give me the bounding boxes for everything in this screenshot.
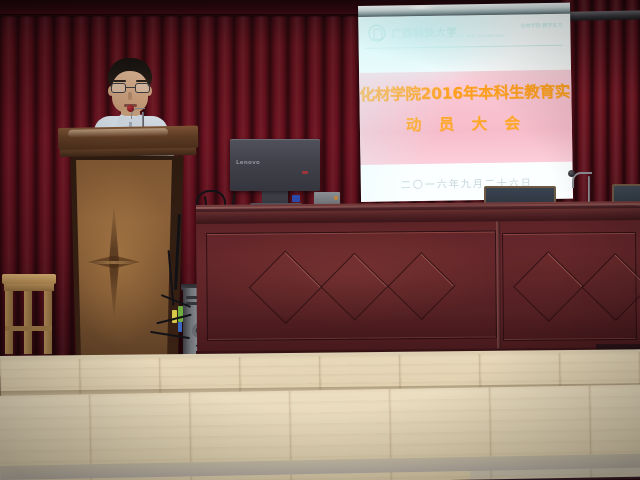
conference-table: [196, 205, 640, 363]
stool-stretcher: [5, 326, 52, 331]
presenter-nose: [128, 92, 132, 100]
university-emblem-icon: [368, 25, 385, 42]
star-inlay-highlight: [88, 261, 140, 264]
slide-title-line-2: 动 员 大 会: [360, 111, 572, 136]
monitor-vga-connector: [292, 195, 300, 202]
equipment-cable-loop: [196, 190, 226, 206]
stool-apron: [4, 283, 54, 291]
table-diamond-motif: [582, 253, 640, 321]
photograph-lecture-hall-stage: 广西科技大学 GUANGXI UNIVERSITY OF SCIENCE AND…: [0, 0, 640, 480]
av-box-indicator: [334, 196, 338, 200]
table-diamond-motif: [388, 252, 456, 320]
table-recessed-panel: [502, 232, 637, 341]
slide-corner-mark: 化材学院 教学实习: [521, 23, 563, 30]
eyeglass-lens-left: [111, 83, 126, 93]
stool-seat: [2, 274, 56, 284]
lectern-star-inlay: [88, 202, 140, 322]
cable-tag-blue: [178, 322, 182, 332]
table-diamond-motif: [513, 251, 584, 322]
table-diamond-motif: [249, 251, 323, 325]
wooden-stool: [2, 274, 56, 360]
table-recessed-panel: [206, 230, 497, 341]
monitor-brand-label: Lenovo: [236, 160, 260, 166]
projection-screen-surface: 广西科技大学 GUANGXI UNIVERSITY OF SCIENCE AND…: [358, 14, 573, 202]
presenter-eyebrow-left: [113, 80, 126, 82]
eyeglass-bridge: [126, 87, 135, 88]
lectern-front-panel: [74, 160, 174, 360]
slide-university-subtitle: GUANGXI UNIVERSITY OF SCIENCE AND TECHNO…: [391, 34, 505, 40]
roller-bar-glint: [406, 5, 436, 10]
stool-leg: [24, 290, 32, 354]
presenter-eyebrow-right: [136, 80, 149, 82]
lectern-top-highlight: [68, 128, 168, 138]
desktop-monitor-rear: Lenovo: [230, 139, 326, 213]
monitor-power-led: [302, 171, 308, 174]
stool-leg: [5, 290, 13, 354]
eyeglass-lens-right: [135, 83, 150, 93]
mic-capsule: [568, 170, 575, 177]
slide-title-line-1: 化材学院2016年本科生教育实习: [359, 80, 571, 105]
lectern-top-surface: [58, 126, 198, 150]
cable-tag-green: [178, 306, 183, 322]
podium-mic-capsule: [127, 105, 134, 112]
projection-screen: 广西科技大学 GUANGXI UNIVERSITY OF SCIENCE AND…: [358, 3, 573, 206]
table-diamond-motif: [321, 253, 389, 321]
stool-leg: [44, 290, 52, 354]
slide-header: 广西科技大学 GUANGXI UNIVERSITY OF SCIENCE AND…: [358, 20, 570, 47]
monitor-back-panel: Lenovo: [230, 139, 320, 191]
